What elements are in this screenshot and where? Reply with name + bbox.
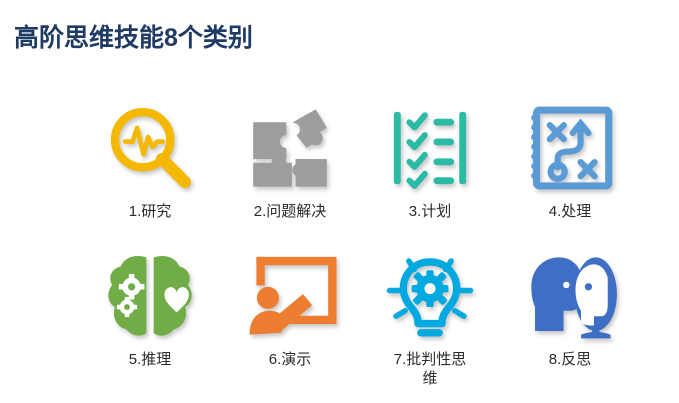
skill-label-8: 8.反思 bbox=[549, 351, 592, 370]
page-title: 高阶思维技能8个类别 bbox=[14, 24, 253, 53]
skills-grid: 1.研究 2.问题解决 bbox=[80, 100, 640, 395]
strategy-notepad-icon bbox=[522, 100, 618, 196]
skill-card-3: 3.计划 bbox=[360, 100, 500, 248]
skill-label-4: 4.处理 bbox=[549, 203, 592, 222]
skill-card-4: 4.处理 bbox=[500, 100, 640, 248]
skill-label-7: 7.批判性思维 bbox=[387, 351, 473, 389]
skill-label-6: 6.演示 bbox=[269, 351, 312, 370]
puzzle-pieces-icon bbox=[242, 100, 338, 196]
skill-label-2: 2.问题解决 bbox=[254, 203, 327, 222]
skill-card-8: 8.反思 bbox=[500, 248, 640, 396]
skill-card-5: 5.推理 bbox=[80, 248, 220, 396]
skill-card-7: 7.批判性思维 bbox=[360, 248, 500, 396]
brain-gears-heart-icon bbox=[102, 248, 198, 344]
head-mirror-icon bbox=[522, 248, 618, 344]
skill-card-1[interactable]: 1.研究 bbox=[80, 100, 220, 248]
slide-canvas: 高阶思维技能8个类别 1.研究 bbox=[0, 0, 679, 403]
presenter-whiteboard-icon bbox=[242, 248, 338, 344]
skill-card-6: 6.演示 bbox=[220, 248, 360, 396]
lightbulb-gear-icon bbox=[382, 248, 478, 344]
skill-card-2[interactable]: 2.问题解决 bbox=[220, 100, 360, 248]
skill-label-1: 1.研究 bbox=[129, 203, 172, 222]
checklist-icon bbox=[382, 100, 478, 196]
magnifier-pulse-icon bbox=[102, 100, 198, 196]
skill-label-5: 5.推理 bbox=[129, 351, 172, 370]
skill-label-3: 3.计划 bbox=[409, 203, 452, 222]
